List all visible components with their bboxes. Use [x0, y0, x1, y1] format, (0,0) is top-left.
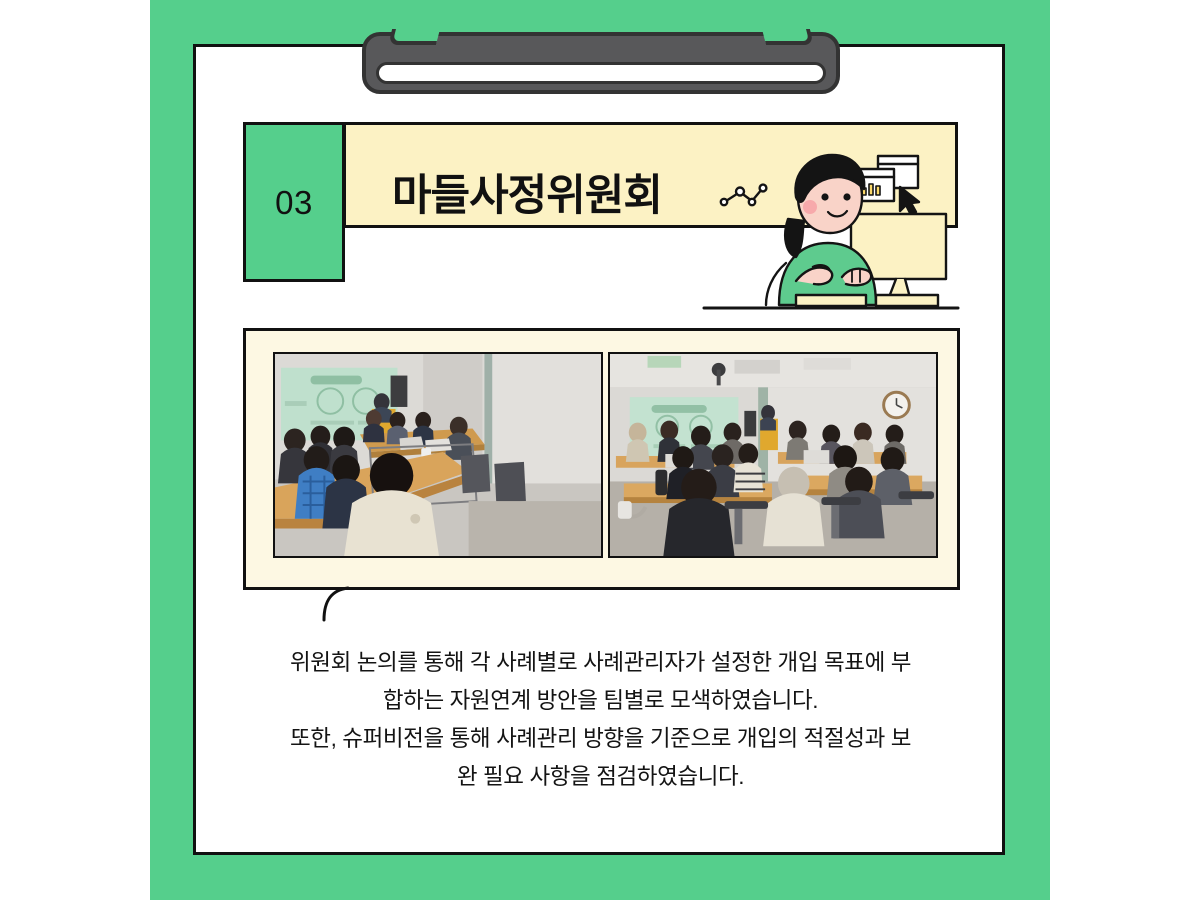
- woman-at-computer-illustration: [700, 145, 962, 320]
- connected-dots-icon: [721, 185, 767, 206]
- cursor-arrow-icon: [900, 187, 919, 215]
- person-head: [795, 155, 864, 233]
- photo-panel: [243, 328, 960, 590]
- body-paragraph: 위원회 논의를 통해 각 사례별로 사례관리자가 설정한 개입 목표에 부 합하…: [223, 644, 978, 796]
- section-number: 03: [275, 186, 313, 219]
- meeting-room-photo-rear-view: [608, 352, 938, 558]
- clipboard-clip: [362, 32, 840, 94]
- slide-canvas: 03 마들사정위원회: [0, 0, 1200, 900]
- section-number-box: 03: [243, 122, 345, 282]
- page-title: 마들사정위원회: [392, 175, 712, 218]
- callout-tail: [318, 586, 354, 622]
- clip-notch-right: [762, 29, 814, 45]
- clip-notch-left: [388, 29, 440, 45]
- clip-bar: [376, 62, 826, 84]
- keyboard-icon: [796, 295, 938, 306]
- meeting-room-photo-side-view: [273, 352, 603, 558]
